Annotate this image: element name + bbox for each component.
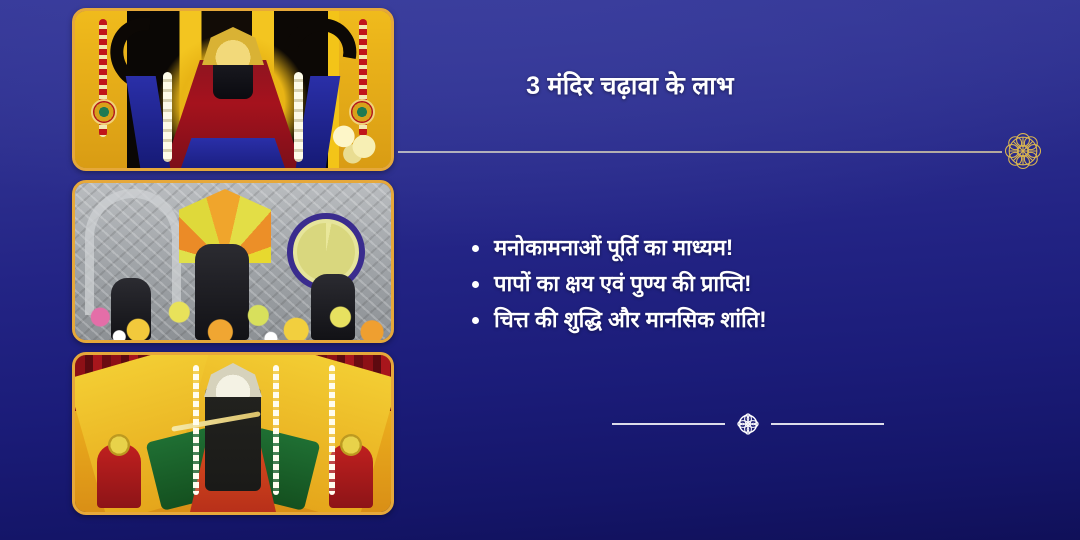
title-rule [398,151,1002,153]
photo-temple-deity-golden-backdrop[interactable] [72,8,394,171]
slide-canvas: 3 मंदिर चढ़ावा के लाभ मनोकामनाओं पूर्ति … [0,0,1080,540]
flower-rosette-icon [735,411,761,437]
list-item: पापों का क्षय एवं पुण्य की प्राप्ति! [466,266,1026,302]
divider-line-left [612,423,725,425]
slide-title: 3 मंदिर चढ़ावा के लाभ [420,68,840,102]
list-item: मनोकामनाओं पूर्ति का माध्यम! [466,230,1026,266]
photo-1-artwork [75,11,391,168]
photo-3-artwork [75,355,391,512]
photo-krishna-flute-golden-drape[interactable] [72,352,394,515]
divider-line-right [771,423,884,425]
mandala-rosette-icon [1000,128,1046,174]
photo-temple-deities-silver-backdrop[interactable] [72,180,394,343]
benefits-list: मनोकामनाओं पूर्ति का माध्यम! पापों का क्… [466,230,1026,338]
photo-2-artwork [75,183,391,340]
ornament-divider [612,411,884,437]
photo-column [72,8,394,515]
list-item: चित्त की शुद्धि और मानसिक शांति! [466,302,1026,338]
